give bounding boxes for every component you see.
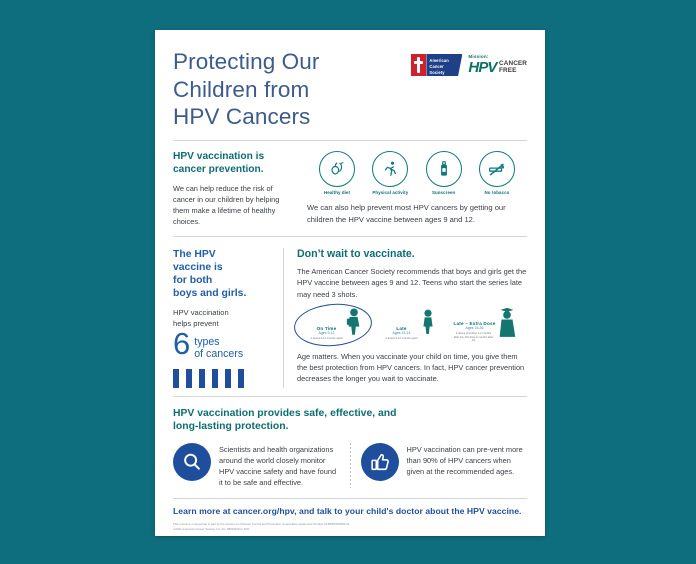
- icon-label-sunscreen: Sunscreen: [418, 190, 470, 195]
- no-tobacco-icon: [479, 151, 515, 187]
- healthy-diet-icon: [319, 151, 355, 187]
- american-cancer-society-logo: American Cancer Society: [411, 54, 462, 76]
- figure-ages: Ages 15-26: [454, 326, 496, 330]
- both-heading-line-2: vaccine is: [173, 261, 270, 274]
- figure-note: 3 doses 2nd dose 1-2 months after 1st, 3…: [454, 332, 494, 343]
- figure-late: Late Ages 13-14 2 doses 6-12 months apar…: [377, 307, 447, 343]
- dont-wait-body: The American Cancer Society recommends t…: [297, 266, 527, 300]
- dont-wait-column: Don’t wait to vaccinate. The American Ca…: [297, 248, 527, 388]
- prevention-note: We can also help prevent most HPV cancer…: [307, 202, 527, 226]
- cancer-free-wordmark: CANCER FREE: [499, 61, 527, 75]
- both-boys-girls-column: The HPV vaccine is for both boys and gir…: [173, 248, 270, 388]
- hpv-wordmark: HPV: [468, 60, 496, 75]
- safe-cards: Scientists and health organizations arou…: [173, 443, 527, 488]
- timing-figures: On Time Ages 9-12 2 doses 6-12 months ap…: [297, 307, 527, 343]
- both-heading-line-3: for both: [173, 274, 270, 287]
- card-scientists-text: Scientists and health organizations arou…: [219, 443, 340, 488]
- section-cancer-prevention: HPV vaccination is cancer prevention. We…: [173, 141, 527, 228]
- icon-label-healthy-diet: Healthy diet: [311, 190, 363, 195]
- poster-header: Protecting Our Children from HPV Cancers…: [173, 30, 527, 131]
- section-dont-wait: The HPV vaccine is for both boys and gir…: [173, 237, 527, 388]
- figure-ages: Ages 13-14: [386, 331, 418, 335]
- six-types-stat: 6 types of cancers: [173, 331, 270, 361]
- thumbs-up-icon: [361, 443, 399, 481]
- six-number: 6: [173, 331, 190, 356]
- icon-label-no-tobacco: No tobacco: [471, 190, 523, 195]
- age-matters-note: Age matters. When you vaccinate your chi…: [297, 351, 527, 385]
- figure-note: 2 doses 6-12 months apart: [386, 337, 418, 341]
- figure-on-time: On Time Ages 9-12 2 doses 6-12 months ap…: [299, 307, 377, 343]
- figure-title: Late – Extra Dose: [454, 321, 496, 326]
- healthy-choice-icons: Healthy diet Physical activity: [307, 151, 527, 195]
- divider-vertical-section-2: [283, 248, 284, 388]
- acs-word-3: Society: [429, 70, 460, 76]
- section-safe-effective: HPV vaccination provides safe, effective…: [173, 397, 527, 488]
- six-label-line-1: types: [194, 336, 243, 349]
- both-heading-line-1: The HPV: [173, 248, 270, 261]
- both-heading: The HPV vaccine is for both boys and gir…: [173, 248, 270, 301]
- graduate-icon: [496, 307, 518, 343]
- page-title: Protecting Our Children from HPV Cancers: [173, 48, 319, 131]
- prevention-body: We can help reduce the risk of cancer in…: [173, 183, 293, 228]
- fine-print-line-2: ©2021 American Cancer Society, Inc. No. …: [173, 527, 250, 531]
- icon-cell-healthy-diet: Healthy diet: [311, 151, 363, 195]
- fine-print-line-1: This resource is supported in part by th…: [173, 522, 350, 526]
- icon-cell-sunscreen: Sunscreen: [418, 151, 470, 195]
- safe-heading-line-1: HPV vaccination provides safe, effective…: [173, 407, 527, 421]
- prevention-heading-line-1: HPV vaccination is: [173, 151, 293, 164]
- prevention-heading: HPV vaccination is cancer prevention.: [173, 151, 293, 177]
- card-effectiveness: HPV vaccination can pre-vent more than 9…: [361, 443, 528, 481]
- card-scientists: Scientists and health organizations arou…: [173, 443, 340, 488]
- title-line-3: HPV Cancers: [173, 103, 319, 131]
- physical-activity-icon: [372, 151, 408, 187]
- acs-sword-icon: [411, 54, 426, 76]
- figure-late-extra-dose: Late – Extra Dose Ages 15-26 3 doses 2nd…: [447, 307, 525, 343]
- card-effectiveness-text: HPV vaccination can pre-vent more than 9…: [407, 443, 528, 477]
- title-line-2: Children from: [173, 76, 319, 104]
- mission-row: HPV CANCER FREE: [468, 60, 527, 75]
- icon-label-physical-activity: Physical activity: [364, 190, 416, 195]
- cancer-bar: [173, 369, 179, 388]
- dont-wait-heading: Don’t wait to vaccinate.: [297, 248, 527, 261]
- learn-more-cta[interactable]: Learn more at cancer.org/hpv, and talk t…: [173, 506, 527, 516]
- divider-vertical-cards: [350, 443, 351, 488]
- prevention-icons-column: Healthy diet Physical activity: [307, 151, 527, 228]
- cancer-bar: [225, 369, 231, 388]
- mission-hpv-cancer-free-logo: Mission: HPV CANCER FREE: [468, 55, 527, 75]
- icon-cell-physical-activity: Physical activity: [364, 151, 416, 195]
- teen-walking-icon: [418, 307, 438, 341]
- magnifying-glass-icon: [173, 443, 211, 481]
- sunscreen-icon: [426, 151, 462, 187]
- cancer-bar: [199, 369, 205, 388]
- safe-heading: HPV vaccination provides safe, effective…: [173, 407, 527, 434]
- cancer-bar: [212, 369, 218, 388]
- poster-sheet: Protecting Our Children from HPV Cancers…: [155, 30, 545, 536]
- screenshot-canvas: Protecting Our Children from HPV Cancers…: [0, 0, 696, 564]
- cancer-bar: [186, 369, 192, 388]
- figure-ages: Ages 9-12: [311, 331, 343, 335]
- figure-note: 2 doses 6-12 months apart: [311, 337, 343, 341]
- six-label-line-2: of cancers: [194, 348, 243, 361]
- acs-wordmark: American Cancer Society: [426, 54, 462, 76]
- cancer-bar: [238, 369, 244, 388]
- free-word: FREE: [499, 68, 527, 75]
- logo-group: American Cancer Society Mission: HPV CAN…: [411, 54, 527, 76]
- both-heading-line-4: boys and girls.: [173, 287, 270, 300]
- icon-cell-no-tobacco: No tobacco: [471, 151, 523, 195]
- safe-heading-line-2: long-lasting protection.: [173, 420, 527, 434]
- both-sub-line-1: HPV vaccination: [173, 308, 229, 317]
- child-backpack-icon: [343, 307, 365, 341]
- prevention-text-column: HPV vaccination is cancer prevention. We…: [173, 151, 293, 228]
- footer-fine-print: This resource is supported in part by th…: [173, 522, 527, 532]
- figure-title: On Time: [311, 326, 343, 331]
- six-label: types of cancers: [194, 331, 243, 361]
- divider-footer: [173, 498, 527, 499]
- cancer-type-bars: [173, 369, 270, 388]
- figure-title: Late: [386, 326, 418, 331]
- title-line-1: Protecting Our: [173, 48, 319, 76]
- prevention-heading-line-2: cancer prevention.: [173, 164, 293, 177]
